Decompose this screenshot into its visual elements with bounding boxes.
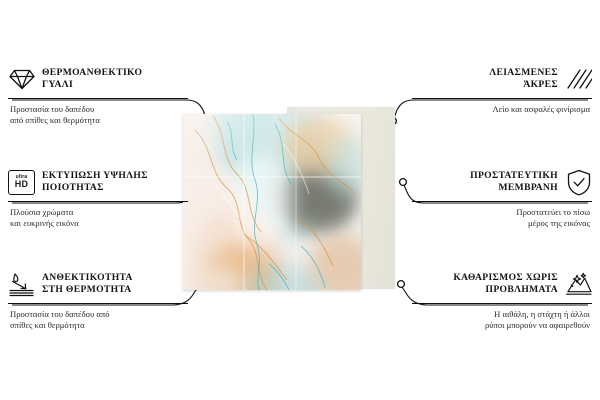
feature-divider — [412, 303, 592, 304]
infographic-stage: ΘΕΡΜΟΑΝΘΕΚΤΙΚΟΓΥΑΛΙ Προστασία του δαπέδο… — [0, 0, 600, 400]
ink-veins — [183, 114, 361, 290]
feature-title: ΘΕΡΜΟΑΝΘΕΚΤΙΚΟΓΥΑΛΙ — [42, 67, 142, 92]
feature-divider — [412, 201, 592, 202]
glass-reflection-line — [295, 114, 297, 290]
feature-title: ΕΚΤΥΠΩΣΗ ΥΨΗΛΗΣΠΟΙΟΤΗΤΑΣ — [42, 170, 148, 195]
feature-polished-edges: ΛΕΙΑΣΜΕΝΕΣΆΚΡΕΣ Λείο και ασφαλές φινίρισ… — [412, 64, 592, 115]
feature-divider — [8, 98, 188, 99]
polished-edges-icon — [565, 66, 592, 93]
glass-panel-front — [183, 114, 361, 290]
feature-heat-resistant-glass: ΘΕΡΜΟΑΝΘΕΚΤΙΚΟΓΥΑΛΙ Προστασία του δαπέδο… — [8, 64, 188, 127]
feature-divider — [8, 201, 188, 202]
feature-description: Προστασία του δαπέδου απόσπίθες και θερμ… — [8, 309, 188, 332]
feature-protective-membrane: ΠΡΟΣΤΑΤΕΥΤΙΚΗΜΕΜΒΡΑΝΗ Προστατεύει το πίσ… — [412, 167, 592, 230]
feature-header: ΚΑΘΑΡΙΣΜΟΣ ΧΩΡΙΣΠΡΟΒΛΗΜΑΤΑ — [412, 269, 592, 299]
feature-title: ΠΡΟΣΤΑΤΕΥΤΙΚΗΜΕΜΒΡΑΝΗ — [470, 170, 558, 195]
feature-divider — [8, 303, 188, 304]
shield-check-icon — [565, 169, 592, 196]
feature-description: Η αιθάλη, η στάχτη ή άλλοιρύποι μπορούν … — [412, 309, 592, 332]
feature-easy-cleaning: ΚΑΘΑΡΙΣΜΟΣ ΧΩΡΙΣΠΡΟΒΛΗΜΑΤΑ Η αιθάλη, η σ… — [412, 269, 592, 332]
feature-description: Προστασία του δαπέδουαπό σπίθες και θερμ… — [8, 104, 188, 127]
feature-header: ultra HD ΕΚΤΥΠΩΣΗ ΥΨΗΛΗΣΠΟΙΟΤΗΤΑΣ — [8, 167, 188, 197]
feature-description: Πλούσια χρώματακαι ευκρινής εικόνα — [8, 207, 188, 230]
feature-title: ΚΑΘΑΡΙΣΜΟΣ ΧΩΡΙΣΠΡΟΒΛΗΜΑΤΑ — [453, 272, 558, 297]
feature-title: ΛΕΙΑΣΜΕΝΕΣΆΚΡΕΣ — [489, 67, 558, 92]
feature-description: Λείο και ασφαλές φινίρισμα — [412, 104, 592, 115]
heat-resistance-icon — [8, 271, 35, 298]
ultra-hd-badge-bottom: HD — [15, 180, 28, 189]
feature-description: Προστατεύει το πίσωμέρος της εικόνας — [412, 207, 592, 230]
ultra-hd-icon: ultra HD — [8, 169, 35, 196]
product-image — [183, 110, 398, 290]
easy-cleaning-icon — [565, 271, 592, 298]
connector-dot-right-2 — [400, 179, 407, 186]
feature-heat-durability: ΑΝΘΕΚΤΙΚΟΤΗΤΑΣΤΗ ΘΕΡΜΟΤΗΤΑ Προστασία του… — [8, 269, 188, 332]
connector-dot-right-3 — [398, 281, 405, 288]
feature-header: ΠΡΟΣΤΑΤΕΥΤΙΚΗΜΕΜΒΡΑΝΗ — [412, 167, 592, 197]
feature-title: ΑΝΘΕΚΤΙΚΟΤΗΤΑΣΤΗ ΘΕΡΜΟΤΗΤΑ — [42, 272, 133, 297]
feature-high-quality-print: ultra HD ΕΚΤΥΠΩΣΗ ΥΨΗΛΗΣΠΟΙΟΤΗΤΑΣ Πλούσι… — [8, 167, 188, 230]
feature-header: ΘΕΡΜΟΑΝΘΕΚΤΙΚΟΓΥΑΛΙ — [8, 64, 188, 94]
feature-divider — [412, 98, 592, 99]
diamond-icon — [8, 66, 35, 93]
feature-header: ΛΕΙΑΣΜΕΝΕΣΆΚΡΕΣ — [412, 64, 592, 94]
feature-header: ΑΝΘΕΚΤΙΚΟΤΗΤΑΣΤΗ ΘΕΡΜΟΤΗΤΑ — [8, 269, 188, 299]
